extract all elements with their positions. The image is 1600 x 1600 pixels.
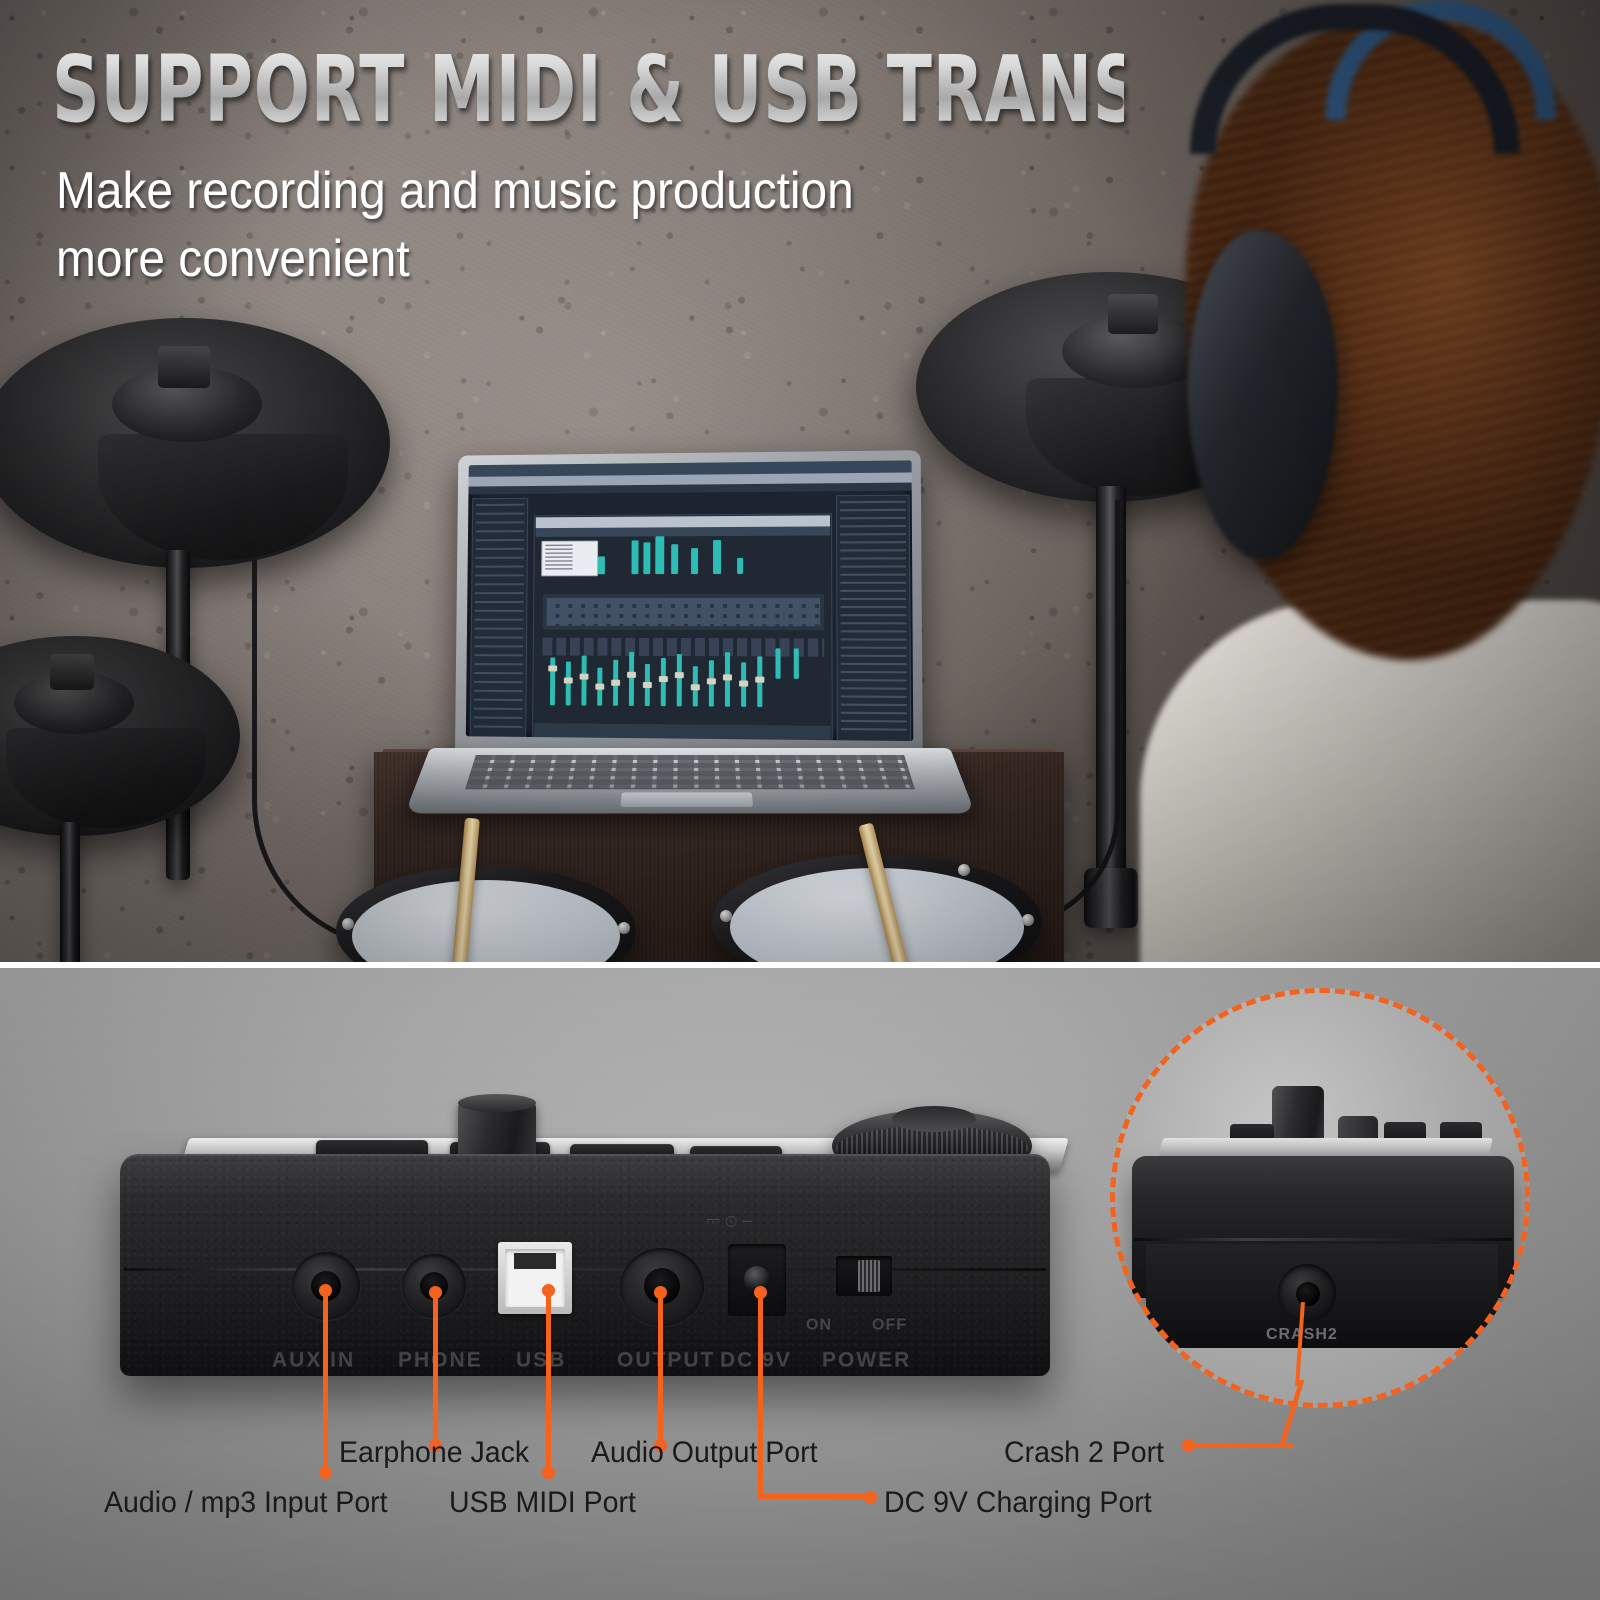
emboss-power: POWER: [822, 1348, 911, 1372]
module-seam: [124, 1268, 1046, 1271]
emboss-usb: USB: [516, 1348, 566, 1372]
lifestyle-photo-panel: SUPPORT MIDI & USB TRANSFER Make recordi…: [0, 0, 1600, 962]
emboss-off: OFF: [872, 1316, 907, 1334]
callout-enddot-audio-input: [319, 1466, 332, 1479]
callout-label-audio-output: Audio Output Port: [591, 1436, 818, 1470]
emboss-on: ON: [806, 1316, 832, 1334]
emboss-output: OUTPUT: [617, 1348, 715, 1372]
module-texture: [120, 1154, 1050, 1376]
callout-line-earphone: [433, 1292, 438, 1445]
module-knob-top: [458, 1094, 536, 1112]
module-dial-inner: [892, 1106, 976, 1132]
vignette: [0, 0, 1600, 962]
subtitle-line-2: more convenient: [56, 226, 1022, 294]
callout-line-crash2-horizontal: [1186, 1443, 1293, 1448]
callout-enddot-crash2: [1182, 1439, 1195, 1452]
usb-midi-port[interactable]: [498, 1242, 572, 1314]
callout-line-dc-horizontal: [758, 1494, 870, 1499]
callout-enddot-dc-charging: [864, 1491, 877, 1504]
subtitle-line-1: Make recording and music production: [56, 158, 1022, 226]
emboss-phone: PHONE: [398, 1348, 483, 1372]
dc-polarity-icon: ⎓ ⊙ –: [706, 1210, 752, 1231]
callout-line-audio-output: [658, 1292, 663, 1445]
emboss-aux-in: AUX IN: [272, 1348, 355, 1372]
dc-9v-port[interactable]: [728, 1244, 786, 1316]
callout-line-usb-midi: [546, 1290, 551, 1472]
power-switch[interactable]: [836, 1256, 892, 1296]
callout-line-audio-input: [323, 1290, 328, 1472]
inset-dashed-ring: [1110, 988, 1530, 1408]
product-marketing-image: SUPPORT MIDI & USB TRANSFER Make recordi…: [0, 0, 1600, 1600]
callout-label-earphone: Earphone Jack: [339, 1436, 529, 1470]
callout-label-usb-midi: USB MIDI Port: [449, 1486, 636, 1520]
page-title: SUPPORT MIDI & USB TRANSFER: [52, 36, 1124, 143]
module-body: [120, 1154, 1050, 1376]
callout-label-audio-input: Audio / mp3 Input Port: [104, 1486, 388, 1520]
page-subtitle: Make recording and music production more…: [56, 158, 1022, 293]
callout-enddot-usb-midi: [542, 1466, 555, 1479]
callout-label-crash2: Crash 2 Port: [1004, 1436, 1164, 1470]
emboss-dc-9v: DC 9V: [720, 1348, 792, 1372]
callout-label-dc-charging: DC 9V Charging Port: [884, 1486, 1152, 1520]
callout-line-dc-vertical: [758, 1292, 763, 1494]
